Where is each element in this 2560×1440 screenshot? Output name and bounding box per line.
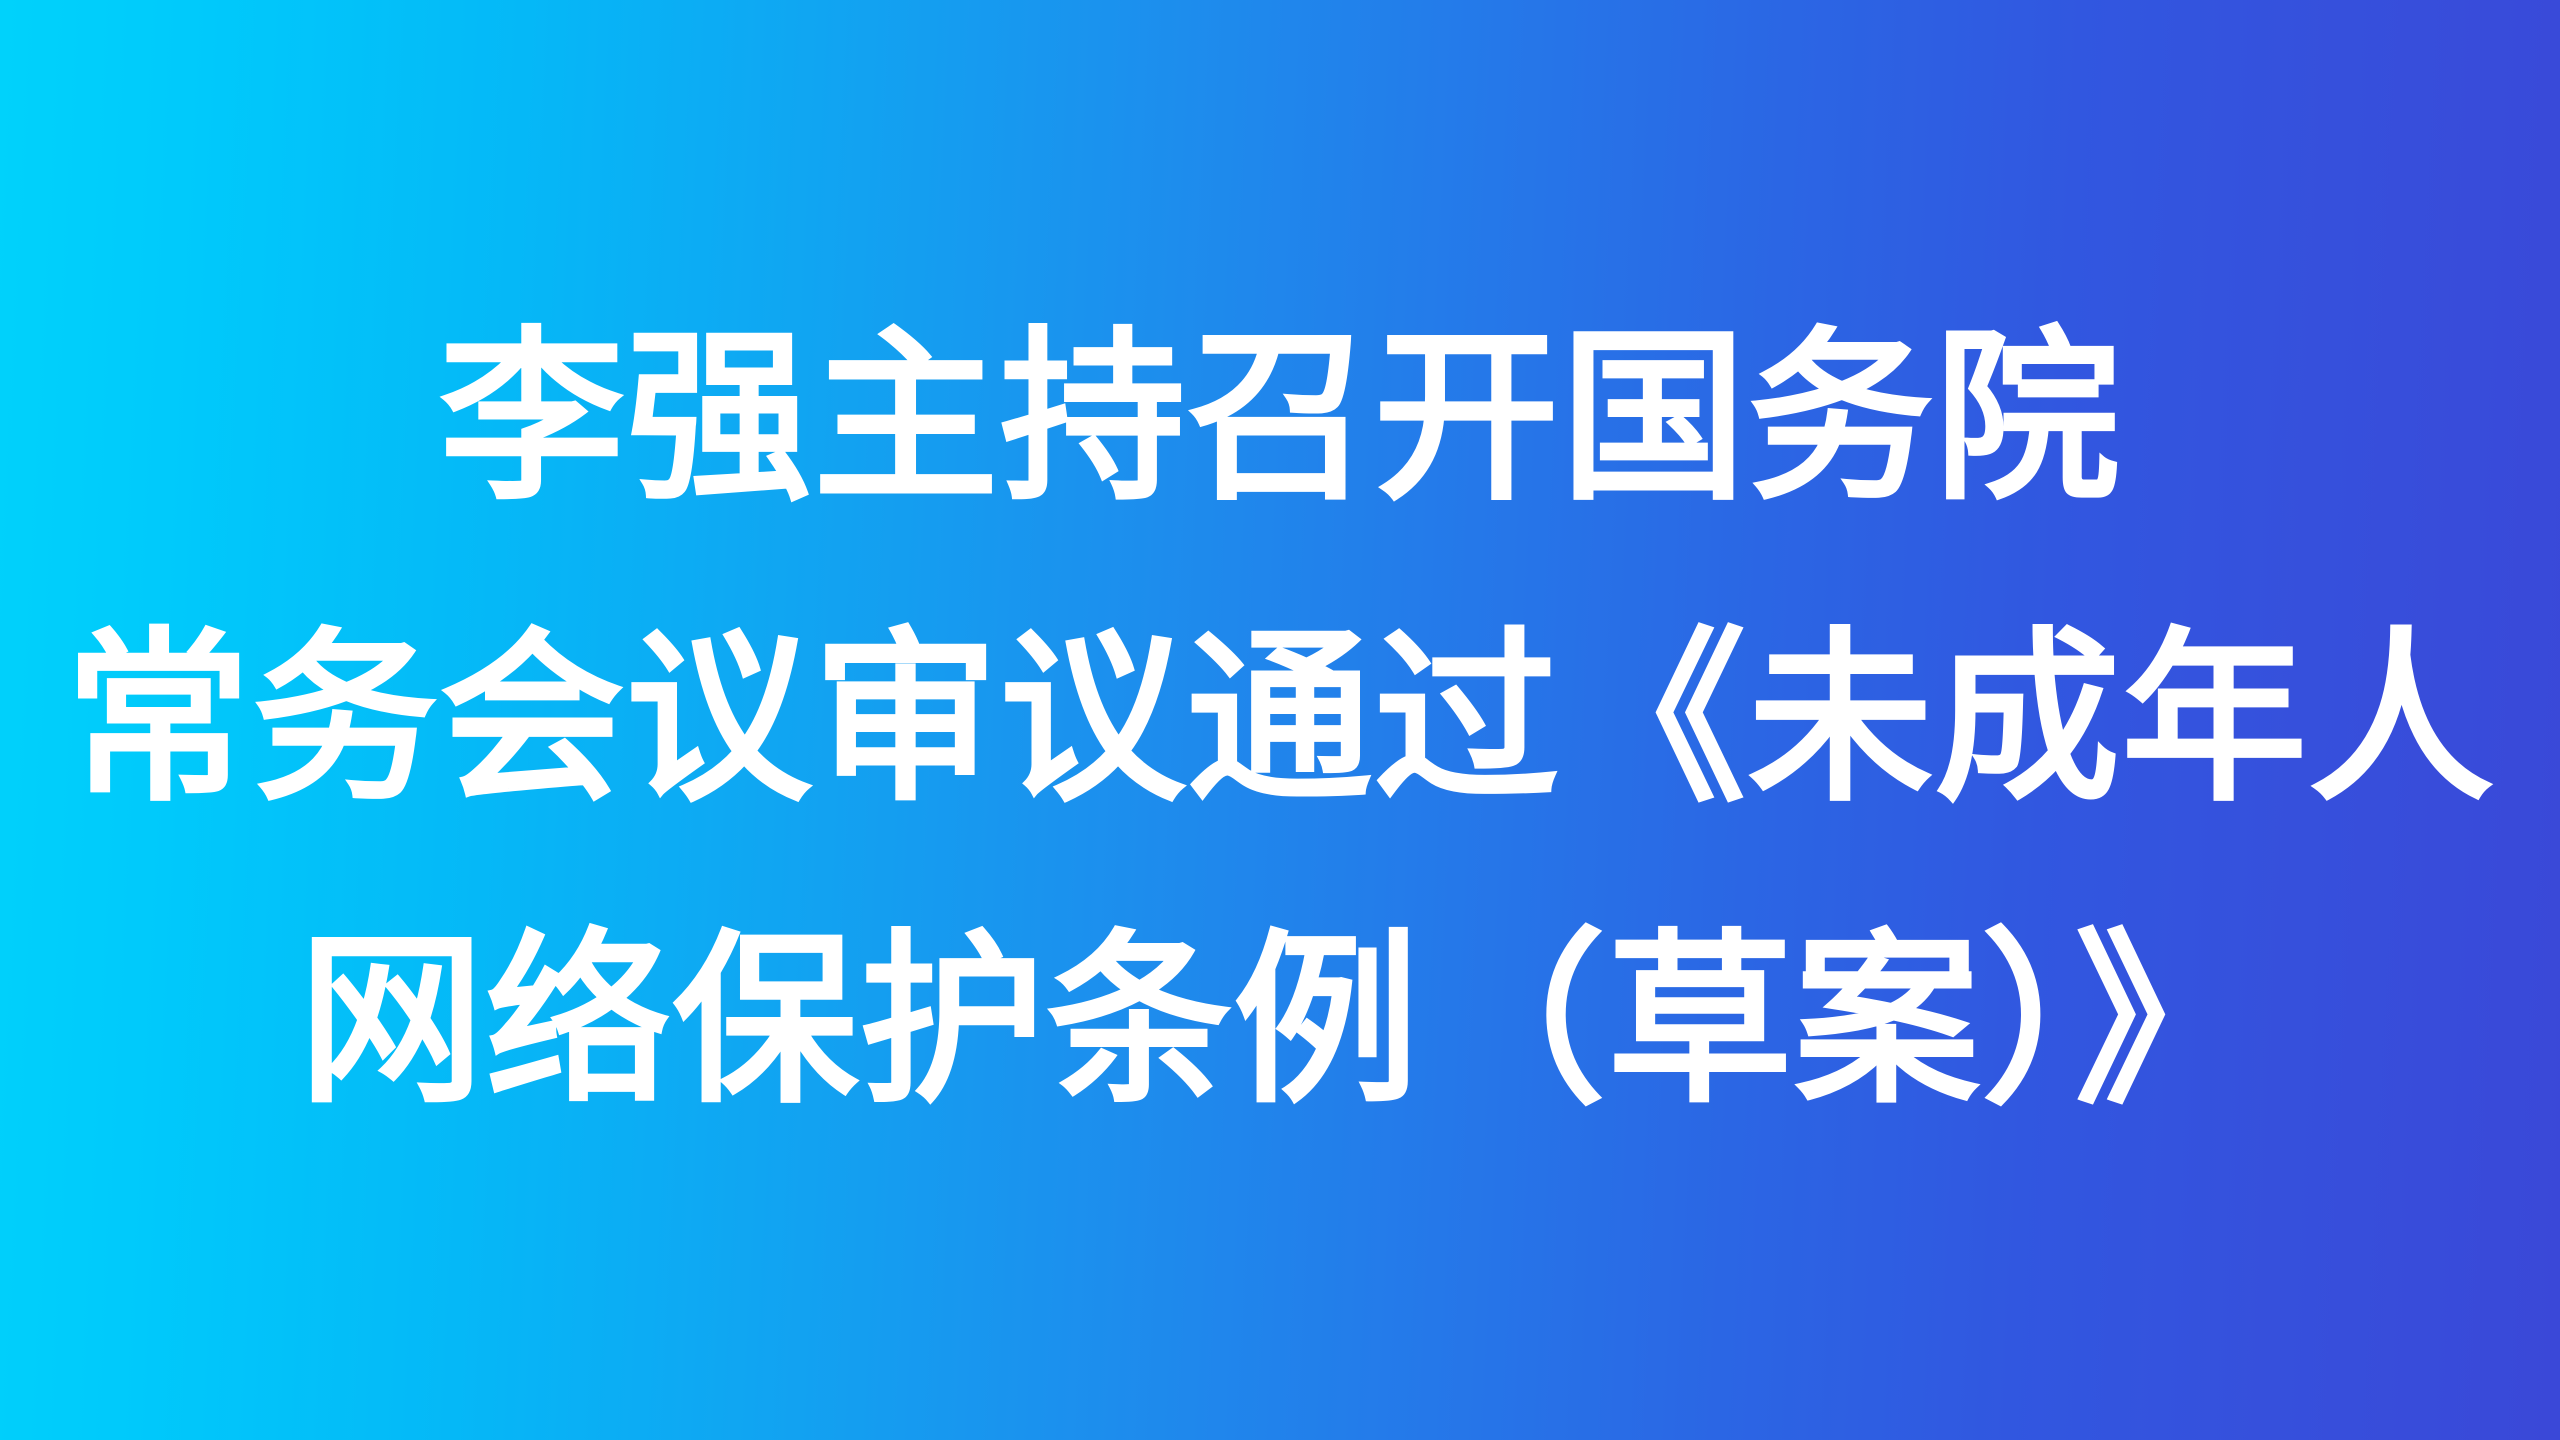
headline-text-block: 李强主持召开国务院 常务会议审议通过《未成年人 网络保护条例（草案）》 bbox=[0, 268, 2560, 1172]
headline-line-2: 常务会议审议通过《未成年人 bbox=[40, 569, 2520, 870]
headline-line-1: 李强主持召开国务院 bbox=[40, 268, 2520, 569]
headline-line-3: 网络保护条例（草案）》 bbox=[40, 871, 2520, 1172]
headline-banner: 李强主持召开国务院 常务会议审议通过《未成年人 网络保护条例（草案）》 bbox=[0, 0, 2560, 1440]
